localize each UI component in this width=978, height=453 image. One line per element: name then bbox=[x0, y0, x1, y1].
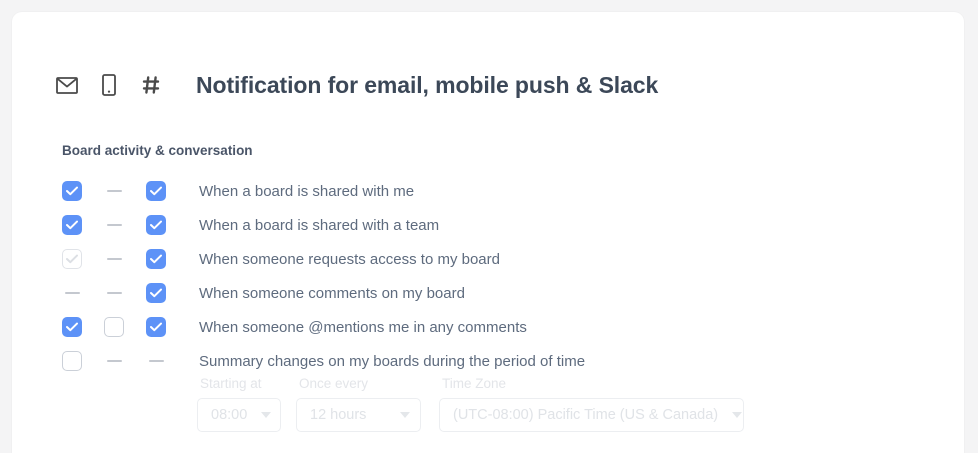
mobile-toggle-cell[interactable] bbox=[104, 317, 146, 337]
table-row: When a board is shared with me bbox=[62, 174, 922, 208]
slack-toggle-cell[interactable] bbox=[146, 249, 188, 269]
email-toggle-cell[interactable] bbox=[62, 215, 104, 235]
starting-at-value: 08:00 bbox=[211, 407, 247, 423]
chevron-down-icon bbox=[261, 412, 271, 418]
starting-at-label: Starting at bbox=[197, 376, 281, 391]
email-toggle-cell[interactable] bbox=[62, 351, 104, 371]
notification-rows: When a board is shared with me When bbox=[62, 174, 922, 378]
email-checkbox[interactable] bbox=[62, 317, 82, 337]
time-zone-select[interactable]: (UTC-08:00) Pacific Time (US & Canada) bbox=[439, 398, 744, 432]
starting-at-select[interactable]: 08:00 bbox=[197, 398, 281, 432]
table-row: When someone requests access to my board bbox=[62, 242, 922, 276]
email-icon bbox=[50, 69, 84, 101]
mobile-toggle-cell bbox=[104, 190, 146, 192]
email-checkbox[interactable] bbox=[62, 181, 82, 201]
page-header: Notification for email, mobile push & Sl… bbox=[50, 64, 658, 106]
page-root: Notification for email, mobile push & Sl… bbox=[0, 0, 978, 453]
slack-icon bbox=[134, 69, 168, 101]
chevron-down-icon bbox=[732, 412, 742, 418]
slack-unavailable-dash bbox=[149, 360, 164, 362]
settings-card: Notification for email, mobile push & Sl… bbox=[12, 12, 964, 453]
slack-checkbox[interactable] bbox=[146, 215, 166, 235]
mobile-toggle-cell bbox=[104, 292, 146, 294]
mobile-toggle-cell bbox=[104, 360, 146, 362]
once-every-value: 12 hours bbox=[310, 407, 366, 423]
row-label: When someone comments on my board bbox=[199, 285, 465, 302]
email-toggle-cell[interactable] bbox=[62, 181, 104, 201]
time-zone-field: Time Zone (UTC-08:00) Pacific Time (US &… bbox=[439, 376, 744, 432]
slack-toggle-cell[interactable] bbox=[146, 215, 188, 235]
page-title: Notification for email, mobile push & Sl… bbox=[196, 72, 658, 99]
row-label: When a board is shared with a team bbox=[199, 217, 439, 234]
slack-checkbox[interactable] bbox=[146, 283, 166, 303]
email-toggle-cell[interactable] bbox=[62, 317, 104, 337]
email-checkbox bbox=[62, 249, 82, 269]
table-row: When someone @mentions me in any comment… bbox=[62, 310, 922, 344]
table-row: When someone comments on my board bbox=[62, 276, 922, 310]
mobile-toggle-cell bbox=[104, 258, 146, 260]
mobile-unavailable-dash bbox=[107, 360, 122, 362]
once-every-select[interactable]: 12 hours bbox=[296, 398, 421, 432]
slack-toggle-cell[interactable] bbox=[146, 317, 188, 337]
slack-checkbox[interactable] bbox=[146, 317, 166, 337]
slack-toggle-cell bbox=[146, 360, 188, 362]
mobile-toggle-cell bbox=[104, 224, 146, 226]
mobile-checkbox[interactable] bbox=[104, 317, 124, 337]
row-label: Summary changes on my boards during the … bbox=[199, 353, 585, 370]
slack-checkbox[interactable] bbox=[146, 181, 166, 201]
email-unavailable-dash bbox=[65, 292, 80, 294]
mobile-push-icon bbox=[92, 69, 126, 101]
summary-schedule-controls: Starting at 08:00 Once every 12 hours bbox=[197, 376, 744, 432]
mobile-unavailable-dash bbox=[107, 292, 122, 294]
row-label: When someone requests access to my board bbox=[199, 251, 500, 268]
email-checkbox[interactable] bbox=[62, 351, 82, 371]
row-label: When a board is shared with me bbox=[199, 183, 414, 200]
email-checkbox[interactable] bbox=[62, 215, 82, 235]
slack-toggle-cell[interactable] bbox=[146, 283, 188, 303]
slack-checkbox[interactable] bbox=[146, 249, 166, 269]
email-toggle-cell bbox=[62, 292, 104, 294]
mobile-unavailable-dash bbox=[107, 258, 122, 260]
chevron-down-icon bbox=[400, 412, 410, 418]
slack-toggle-cell[interactable] bbox=[146, 181, 188, 201]
once-every-field: Once every 12 hours bbox=[296, 376, 421, 432]
once-every-label: Once every bbox=[296, 376, 421, 391]
time-zone-label: Time Zone bbox=[439, 376, 744, 391]
mobile-unavailable-dash bbox=[107, 224, 122, 226]
section-title: Board activity & conversation bbox=[62, 143, 253, 158]
email-toggle-cell bbox=[62, 249, 104, 269]
row-label: When someone @mentions me in any comment… bbox=[199, 319, 527, 336]
table-row: Summary changes on my boards during the … bbox=[62, 344, 922, 378]
starting-at-field: Starting at 08:00 bbox=[197, 376, 281, 432]
table-row: When a board is shared with a team bbox=[62, 208, 922, 242]
mobile-unavailable-dash bbox=[107, 190, 122, 192]
time-zone-value: (UTC-08:00) Pacific Time (US & Canada) bbox=[453, 407, 718, 423]
